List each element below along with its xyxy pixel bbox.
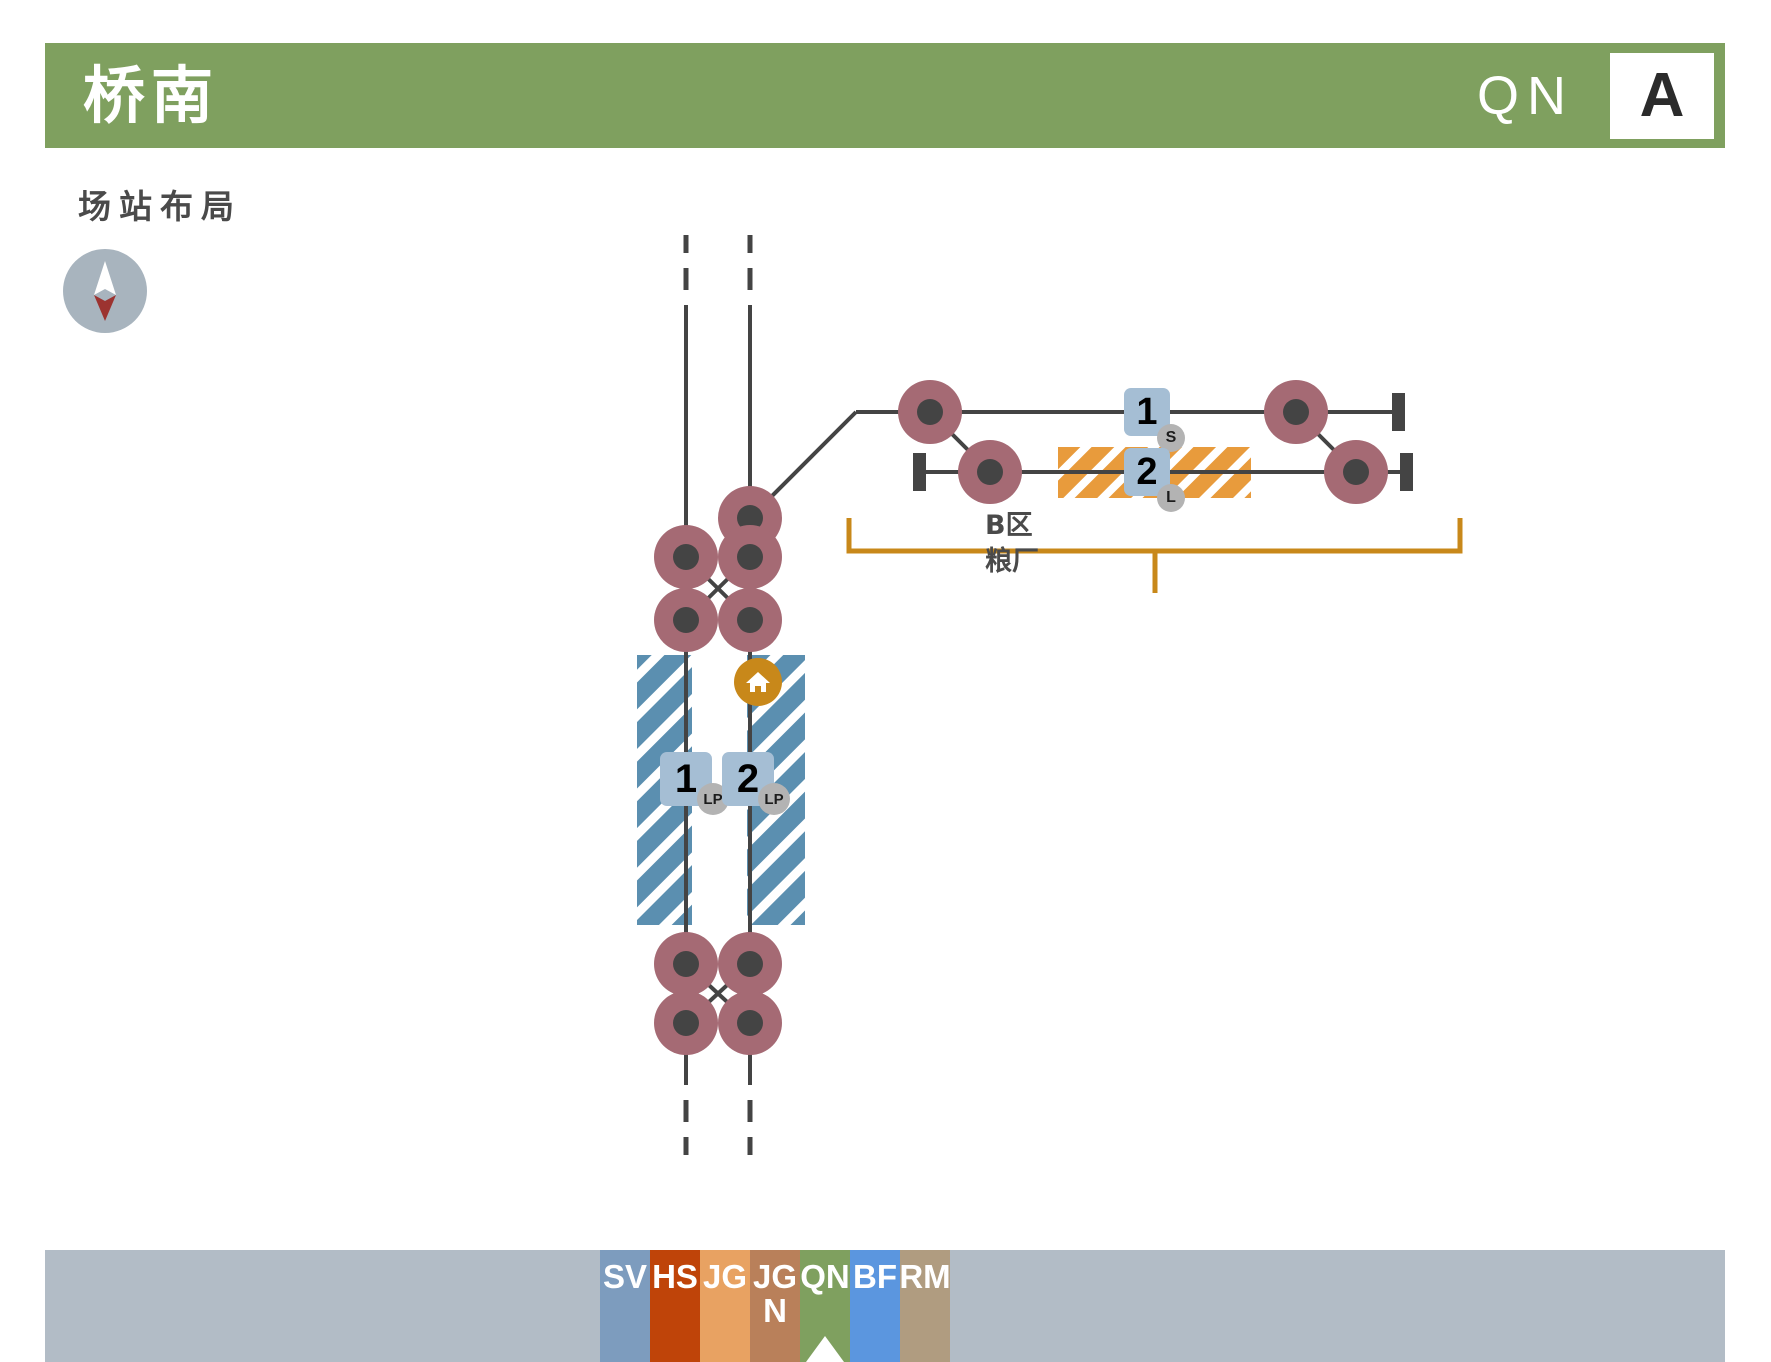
line-badge: A bbox=[1610, 53, 1714, 139]
line-strip-station-hs[interactable]: HS bbox=[650, 1250, 700, 1362]
compass-icon bbox=[63, 249, 147, 333]
track-lines bbox=[686, 305, 1400, 1085]
area-label: B区 粮厂 bbox=[985, 508, 1185, 581]
current-station-marker bbox=[806, 1336, 844, 1362]
line-strip-label: QN bbox=[800, 1260, 850, 1294]
line-strip-station-bf[interactable]: BF bbox=[850, 1250, 900, 1362]
line-strip-label: N bbox=[763, 1294, 787, 1328]
line-strip-label: SV bbox=[603, 1260, 647, 1294]
line-strip-station-qn[interactable]: QN bbox=[800, 1250, 850, 1362]
line-strip-station-rm[interactable]: RM bbox=[900, 1250, 950, 1362]
area-label-line1: B区 bbox=[985, 508, 1185, 544]
track-dashed-north bbox=[686, 235, 750, 290]
track-dashed-south bbox=[686, 1100, 750, 1155]
line-strip-label: JG bbox=[703, 1260, 747, 1294]
line-strip-label: BF bbox=[853, 1260, 897, 1294]
station-header: 桥南 QN A bbox=[45, 43, 1725, 148]
switch-markers bbox=[654, 380, 1388, 1055]
line-strip-label: JG bbox=[753, 1260, 797, 1294]
facility-hatch-right bbox=[1183, 447, 1251, 498]
station-code: QN bbox=[1477, 69, 1574, 123]
line-strip-station-jgn[interactable]: JGN bbox=[750, 1250, 800, 1362]
station-layout-diagram bbox=[0, 0, 1771, 1240]
line-strip-label: RM bbox=[899, 1260, 950, 1294]
home-icon[interactable] bbox=[734, 658, 782, 706]
area-label-line2: 粮厂 bbox=[985, 544, 1185, 580]
section-subtitle: 场站布局 bbox=[78, 180, 242, 228]
line-strip-bar: SVHSJGJGNQNBFRM bbox=[45, 1250, 1725, 1362]
line-strip-station-jg[interactable]: JG bbox=[700, 1250, 750, 1362]
line-strip-label: HS bbox=[652, 1260, 698, 1294]
page-title: 桥南 bbox=[83, 65, 219, 127]
platform-track-2-type-badge: LP bbox=[758, 783, 790, 815]
header-right-group: QN A bbox=[1477, 43, 1725, 148]
line-strip-station-sv[interactable]: SV bbox=[600, 1250, 650, 1362]
